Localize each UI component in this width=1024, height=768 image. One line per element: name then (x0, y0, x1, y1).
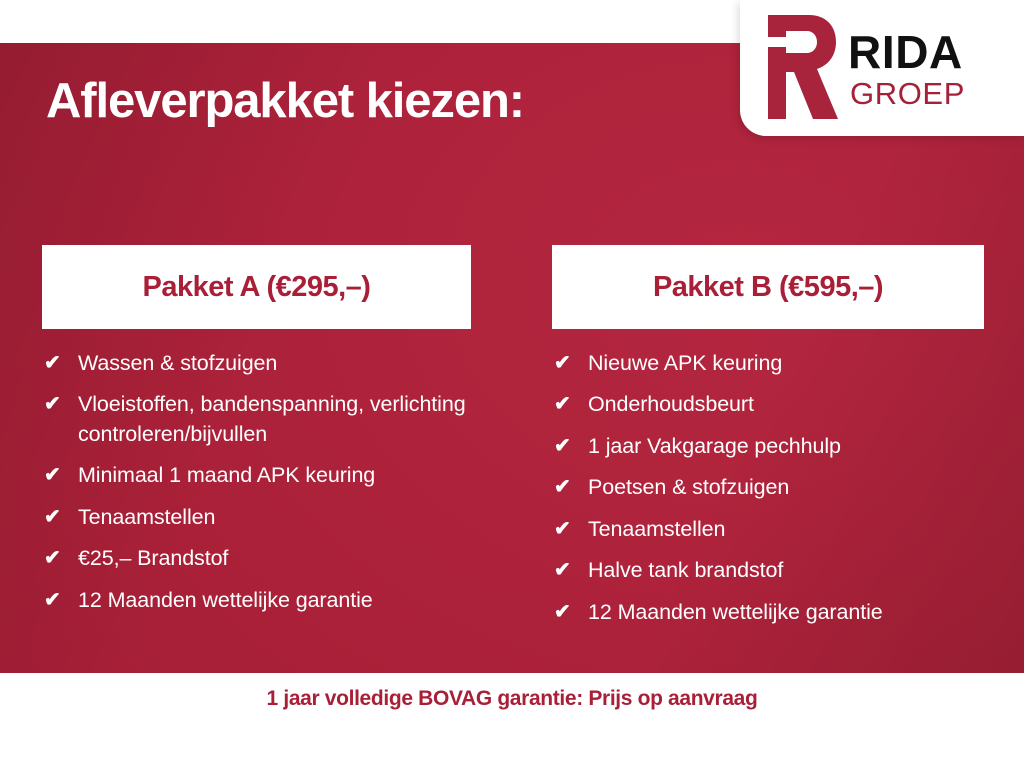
list-item-label: 12 Maanden wettelijke garantie (588, 600, 883, 624)
list-item: ✔ 1 jaar Vakgarage pechhulp (552, 432, 984, 461)
check-icon: ✔ (44, 504, 61, 531)
slide-root: Afleverpakket kiezen: Pakket A (€295,–) … (0, 0, 1024, 768)
list-item: ✔ Minimaal 1 maand APK keuring (42, 461, 471, 490)
list-item-label: €25,– Brandstof (78, 546, 228, 570)
package-b-title: Pakket B (€595,–) (653, 271, 883, 304)
list-item: ✔ 12 Maanden wettelijke garantie (42, 586, 471, 615)
list-item-label: Wassen & stofzuigen (78, 351, 277, 375)
list-item-label: 12 Maanden wettelijke garantie (78, 588, 373, 612)
list-item: ✔ €25,– Brandstof (42, 544, 471, 573)
list-item-label: Halve tank brandstof (588, 558, 783, 582)
check-icon: ✔ (554, 391, 571, 418)
list-item-label: Vloeistoffen, bandenspanning, verlichtin… (78, 392, 466, 445)
page-title: Afleverpakket kiezen: (46, 76, 524, 127)
list-item-label: Poetsen & stofzuigen (588, 475, 789, 499)
check-icon: ✔ (44, 462, 61, 489)
list-item: ✔ Vloeistoffen, bandenspanning, verlicht… (42, 390, 471, 449)
check-icon: ✔ (44, 545, 61, 572)
check-icon: ✔ (44, 391, 61, 418)
brand-logo-panel: RIDA GROEP (740, 0, 1024, 136)
list-item-label: Onderhoudsbeurt (588, 392, 754, 416)
footer-bar: 1 jaar volledige BOVAG garantie: Prijs o… (0, 673, 1024, 768)
check-icon: ✔ (44, 587, 61, 614)
list-item: ✔ Tenaamstellen (552, 515, 984, 544)
check-icon: ✔ (554, 350, 571, 377)
rida-r-monogram-icon (762, 15, 838, 119)
package-a-title: Pakket A (€295,–) (143, 271, 371, 304)
package-a-header: Pakket A (€295,–) (42, 245, 471, 329)
list-item: ✔ Halve tank brandstof (552, 556, 984, 585)
package-b-header: Pakket B (€595,–) (552, 245, 984, 329)
package-a-feature-list: ✔ Wassen & stofzuigen ✔ Vloeistoffen, ba… (42, 349, 471, 615)
check-icon: ✔ (554, 474, 571, 501)
check-icon: ✔ (554, 433, 571, 460)
list-item: ✔ Onderhoudsbeurt (552, 390, 984, 419)
list-item-label: 1 jaar Vakgarage pechhulp (588, 434, 841, 458)
check-icon: ✔ (554, 516, 571, 543)
list-item: ✔ Wassen & stofzuigen (42, 349, 471, 378)
logo-secondary-text: GROEP (850, 78, 965, 109)
check-icon: ✔ (554, 599, 571, 626)
red-stage: Afleverpakket kiezen: Pakket A (€295,–) … (0, 43, 1024, 673)
packages-container: Pakket A (€295,–) ✔ Wassen & stofzuigen … (0, 43, 1024, 673)
footer-guarantee-text: 1 jaar volledige BOVAG garantie: Prijs o… (267, 687, 758, 711)
check-icon: ✔ (44, 350, 61, 377)
package-card-a: Pakket A (€295,–) ✔ Wassen & stofzuigen … (42, 245, 471, 627)
list-item: ✔ Nieuwe APK keuring (552, 349, 984, 378)
package-b-feature-list: ✔ Nieuwe APK keuring ✔ Onderhoudsbeurt ✔… (552, 349, 984, 627)
logo-wordmark: RIDA GROEP (848, 29, 965, 109)
list-item-label: Tenaamstellen (78, 505, 215, 529)
list-item: ✔ 12 Maanden wettelijke garantie (552, 598, 984, 627)
package-card-b: Pakket B (€595,–) ✔ Nieuwe APK keuring ✔… (552, 245, 984, 639)
list-item-label: Tenaamstellen (588, 517, 725, 541)
list-item-label: Minimaal 1 maand APK keuring (78, 463, 375, 487)
check-icon: ✔ (554, 557, 571, 584)
list-item: ✔ Poetsen & stofzuigen (552, 473, 984, 502)
list-item: ✔ Tenaamstellen (42, 503, 471, 532)
list-item-label: Nieuwe APK keuring (588, 351, 782, 375)
logo-primary-text: RIDA (848, 29, 965, 75)
